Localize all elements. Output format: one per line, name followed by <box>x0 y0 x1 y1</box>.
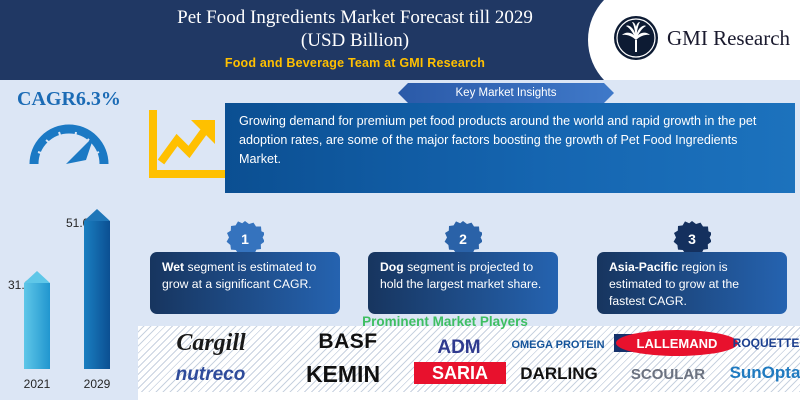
insights-panel: Growing demand for premium pet food prod… <box>225 103 795 193</box>
logo-nutreco: nutreco <box>148 362 273 388</box>
logo-label-kemin: KEMIN <box>306 361 380 388</box>
card-lead-3: Asia-Pacific <box>609 260 678 274</box>
logo-omega-protein: OMEGA PROTEIN <box>510 332 606 358</box>
infographic-canvas: Pet Food Ingredients Market Forecast til… <box>0 0 800 400</box>
insight-card-2: Dog segment is projected to hold the lar… <box>368 252 558 314</box>
badge-number-2: 2 <box>459 231 467 247</box>
logo-label-adm: ADM <box>437 337 480 359</box>
bar-label-2021: 2021 <box>12 377 62 391</box>
forecast-bar-chart: 31.3 Bn 51.0 Bn 2021 2029 <box>0 180 138 395</box>
badge-number-3: 3 <box>688 231 696 247</box>
logo-basf: BASF <box>288 328 408 356</box>
card-lead-1: Wet <box>162 260 184 274</box>
badge-number-1: 1 <box>241 231 249 247</box>
logo-label-saria: SARIA <box>432 363 488 384</box>
logo-label-sunopta: SunOpta <box>730 363 800 383</box>
insight-card-1: Wet segment is estimated to grow at a si… <box>150 252 340 314</box>
title-line-2: (USD Billion) <box>120 29 590 52</box>
logo-label-basf: BASF <box>318 330 377 354</box>
header-subtitle: Food and Beverage Team at GMI Research <box>120 56 590 70</box>
logo-label-darling: DARLING <box>520 364 597 384</box>
logo-sunopta: SunOpta <box>730 360 800 386</box>
logo-label-roquette: ROQUETTE <box>733 336 800 350</box>
logo-label-lallemand: LALLEMAND <box>637 336 718 351</box>
logo-label-nutreco: nutreco <box>176 364 246 386</box>
key-market-insights-ribbon: Key Market Insights <box>398 83 614 103</box>
logo-scoular: SCOULAR <box>620 362 716 386</box>
logo-label-omega-protein: OMEGA PROTEIN <box>511 339 604 351</box>
cagr-label: CAGR6.3% <box>0 88 138 111</box>
logo-lallemand-oval: LALLEMAND <box>616 330 738 356</box>
page-title: Pet Food Ingredients Market Forecast til… <box>120 6 590 52</box>
logo-text: GMI Research <box>667 26 790 51</box>
title-line-1: Pet Food Ingredients Market Forecast til… <box>120 6 590 29</box>
speedometer-gauge-icon <box>26 114 112 170</box>
logo-label-cargill: Cargill <box>176 330 245 357</box>
bar-label-2029: 2029 <box>72 377 122 391</box>
logo-saria: SARIA <box>414 362 506 384</box>
bottom-strip <box>138 392 800 400</box>
players-logo-band: Cargill nutreco BASF KEMIN ADM SARIA OME… <box>138 326 800 392</box>
players-title: Prominent Market Players <box>330 314 560 329</box>
cagr-panel: CAGR6.3% 31.3 Bn 51.0 Bn 2021 <box>0 80 138 400</box>
card-lead-2: Dog <box>380 260 404 274</box>
brand-logo: GMI Research <box>570 0 800 80</box>
logo-label-scoular: SCOULAR <box>631 366 705 383</box>
insights-body: Growing demand for premium pet food prod… <box>225 103 795 169</box>
left-bottom-filler <box>0 392 138 400</box>
bar-2021 <box>24 271 50 369</box>
palm-fan-emblem-icon <box>612 14 660 62</box>
logo-darling: DARLING <box>508 362 610 386</box>
logo-roquette: ROQUETTE <box>732 332 800 354</box>
insight-card-3: Asia-Pacific region is estimated to grow… <box>597 252 787 314</box>
header-bar: Pet Food Ingredients Market Forecast til… <box>0 0 800 80</box>
card-rest-2: segment is projected to hold the largest… <box>380 260 541 291</box>
logo-adm: ADM <box>416 336 502 360</box>
card-rest-1: segment is estimated to grow at a signif… <box>162 260 316 291</box>
growth-chart-arrow-icon <box>147 106 231 190</box>
logo-kemin: KEMIN <box>278 360 408 388</box>
logo-cargill: Cargill <box>146 328 276 358</box>
bar-2029 <box>84 209 110 369</box>
